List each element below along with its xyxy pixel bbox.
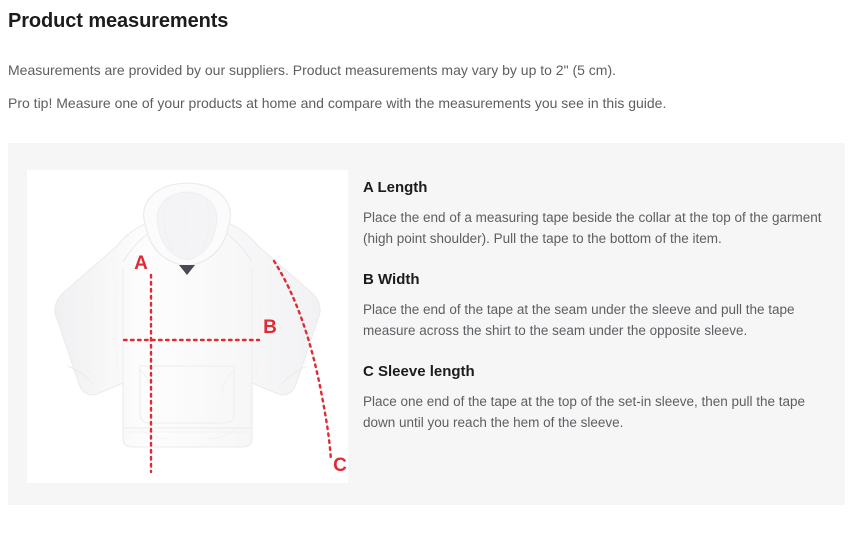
measurement-item-a: A Length Place the end of a measuring ta…	[363, 178, 833, 249]
measurement-body-a: Place the end of a measuring tape beside…	[363, 207, 833, 249]
measurement-item-c: C Sleeve length Place one end of the tap…	[363, 362, 833, 433]
intro-paragraph-pro-tip: Pro tip! Measure one of your products at…	[8, 93, 828, 113]
header-block: Product measurements Measurements are pr…	[8, 8, 828, 113]
page-title: Product measurements	[8, 8, 828, 34]
measurement-heading-b: B Width	[363, 270, 833, 290]
hoodie-measurement-diagram-icon: A B C	[27, 170, 348, 483]
measurement-heading-c: C Sleeve length	[363, 362, 833, 382]
measure-label-a: A	[134, 253, 148, 274]
measurement-body-c: Place one end of the tape at the top of …	[363, 391, 833, 433]
measure-label-b: B	[263, 317, 277, 338]
measurement-body-b: Place the end of the tape at the seam un…	[363, 299, 833, 341]
measurement-guide-panel: A B C A Length Place the end of a measur…	[8, 143, 845, 505]
measurement-heading-a: A Length	[363, 178, 833, 198]
measure-label-c: C	[333, 455, 347, 476]
garment-figure-box: A B C	[27, 170, 348, 483]
measurement-instructions-list: A Length Place the end of a measuring ta…	[363, 178, 833, 433]
measurement-item-b: B Width Place the end of the tape at the…	[363, 270, 833, 341]
hoodie-silhouette	[55, 183, 320, 447]
intro-paragraph-measurements-vary: Measurements are provided by our supplie…	[8, 60, 828, 80]
product-measurements-page: Product measurements Measurements are pr…	[0, 0, 861, 541]
